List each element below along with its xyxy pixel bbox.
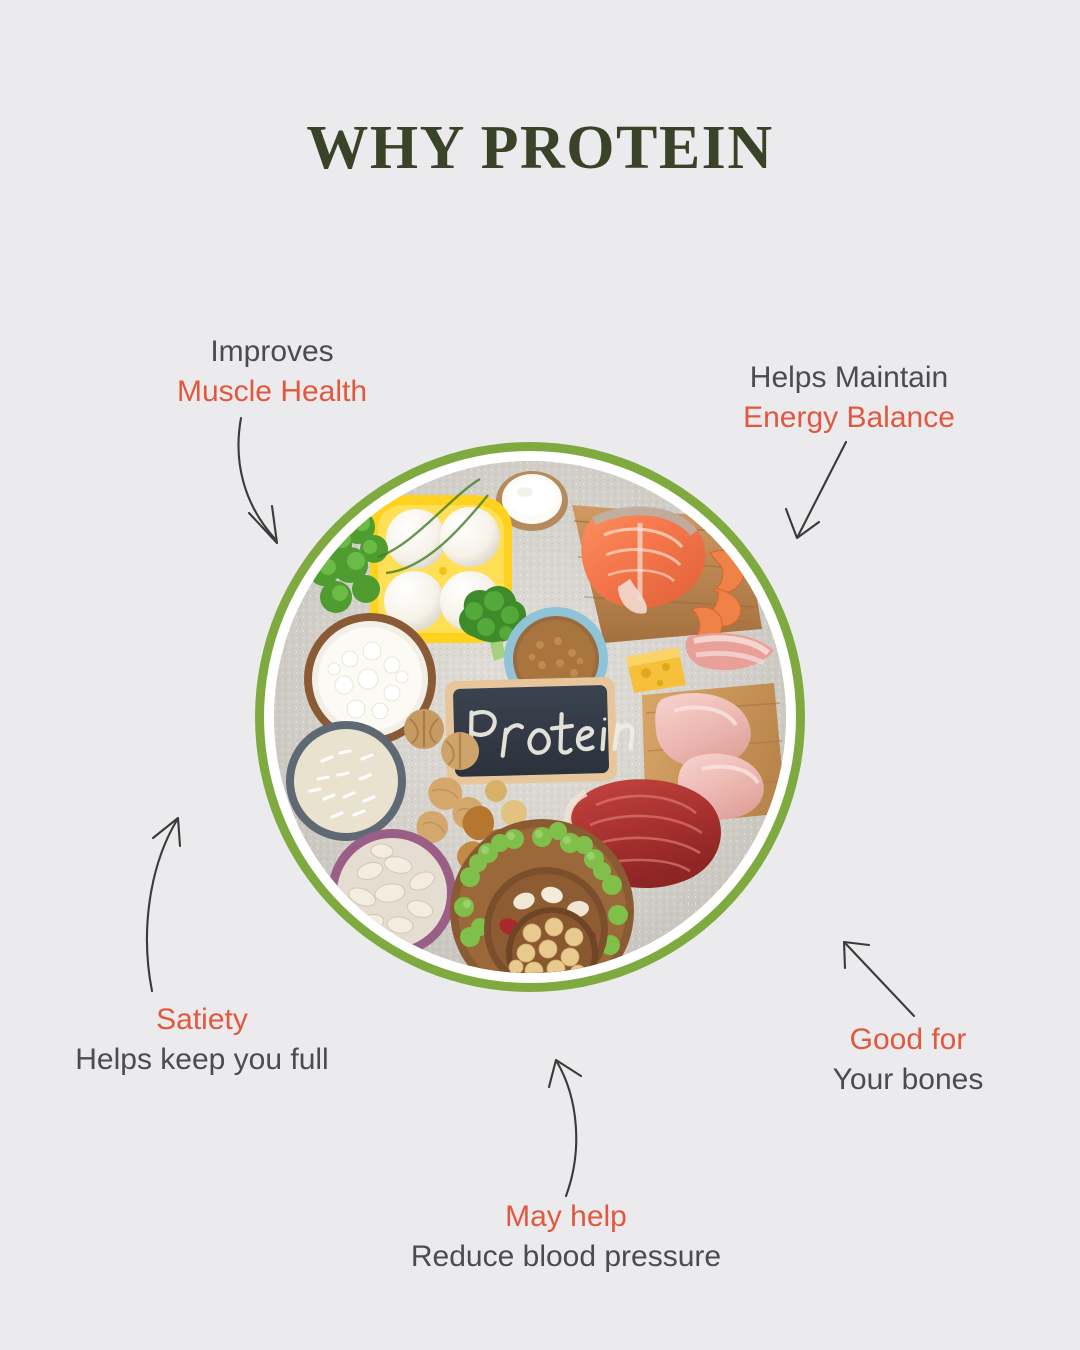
callout-satiety: Satiety Helps keep you full — [52, 1000, 352, 1080]
callout-satiety-line1: Satiety — [52, 1000, 352, 1040]
callout-muscle-health-line1: Improves — [162, 332, 382, 372]
arrow-bones — [844, 942, 914, 1016]
protein-photo-white-gap — [264, 451, 796, 983]
arrow-blood-pressure — [549, 1060, 581, 1196]
arrow-satiety — [147, 818, 180, 991]
arrow-energy-balance — [786, 442, 846, 538]
protein-photo-ring — [255, 442, 805, 992]
callout-muscle-health: Improves Muscle Health — [162, 332, 382, 412]
callout-bones-line1: Good for — [808, 1020, 1008, 1060]
callout-energy-balance-line1: Helps Maintain — [720, 358, 978, 398]
arrow-muscle-health — [238, 418, 277, 543]
callout-energy-balance: Helps Maintain Energy Balance — [720, 358, 978, 438]
callout-bones: Good for Your bones — [808, 1020, 1008, 1100]
protein-foods-photo — [274, 461, 786, 973]
callout-blood-pressure: May help Reduce blood pressure — [378, 1197, 754, 1277]
callout-energy-balance-line2: Energy Balance — [720, 398, 978, 438]
callout-satiety-line2: Helps keep you full — [52, 1040, 352, 1080]
callout-blood-pressure-line1: May help — [378, 1197, 754, 1237]
page-title: WHY PROTEIN — [0, 116, 1080, 181]
callout-blood-pressure-line2: Reduce blood pressure — [378, 1237, 754, 1277]
callout-bones-line2: Your bones — [808, 1060, 1008, 1100]
callout-muscle-health-line2: Muscle Health — [162, 372, 382, 412]
poster-canvas: WHY PROTEIN — [0, 0, 1080, 1350]
